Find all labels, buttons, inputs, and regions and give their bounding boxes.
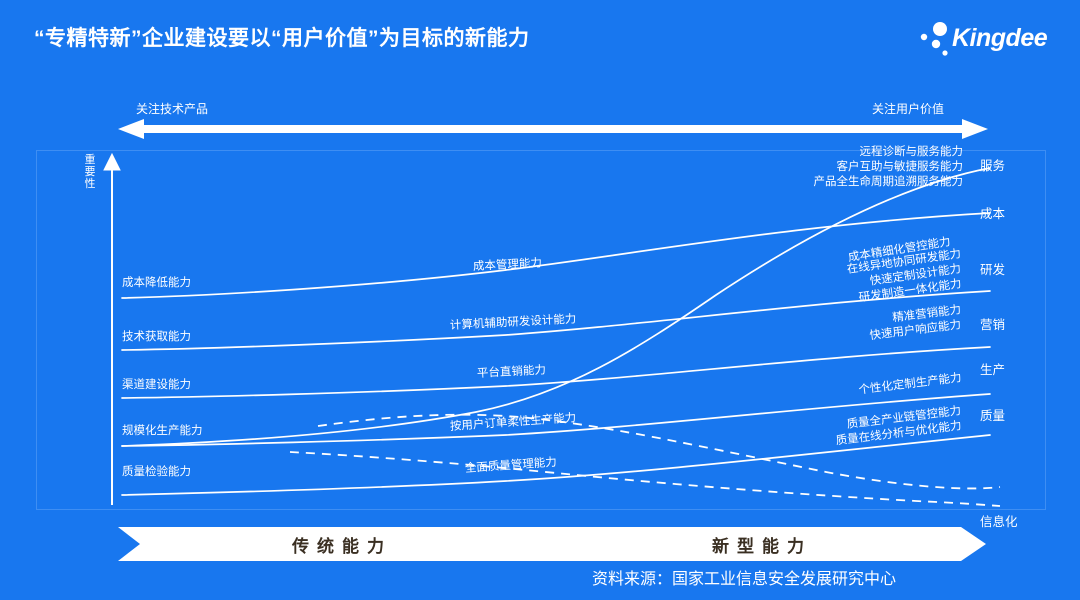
axis-caption-right: 关注用户价值 [872, 100, 944, 117]
solid-curve-group [122, 168, 990, 495]
label-traditional-quality: 质量检验能力 [122, 465, 191, 479]
right-tick-cost: 成本 [980, 203, 1005, 222]
label-new-service-2: 客户互助与敏捷服务能力 [837, 160, 964, 174]
page-title: “专精特新”企业建设要以“用户价值”为目标的新能力 [34, 22, 530, 52]
phase-banner-traditional-label: 传统能力 [284, 532, 392, 557]
label-new-service-1: 远程诊断与服务能力 [860, 145, 964, 159]
phase-banner-new-label: 新型能力 [704, 532, 812, 557]
right-tick-production: 生产 [980, 359, 1005, 378]
y-axis [104, 154, 120, 505]
kingdee-logo: Kingdee [914, 18, 1054, 62]
label-traditional-rnd: 技术获取能力 [122, 330, 191, 344]
bidirectional-arrow-icon [118, 116, 988, 142]
label-traditional-cost: 成本降低能力 [122, 276, 191, 290]
right-tick-rnd: 研发 [980, 259, 1005, 278]
kingdee-dots-icon [916, 20, 956, 60]
x-axis-tick-informatization: 信息化 [980, 511, 1018, 530]
right-tick-quality: 质量 [980, 405, 1005, 424]
right-tick-marketing: 营销 [980, 314, 1005, 333]
brand-name: Kingdee [952, 24, 1047, 53]
capability-chart: 成本降低能力 技术获取能力 渠道建设能力 规模化生产能力 质量检验能力 成本管理… [36, 150, 1046, 510]
source-note: 资料来源：国家工业信息安全发展研究中心 [592, 565, 896, 589]
right-tick-service: 服务 [980, 155, 1005, 174]
dashed-curve-lower [290, 452, 1000, 506]
label-traditional-marketing: 渠道建设能力 [122, 378, 191, 392]
slide-canvas: “专精特新”企业建设要以“用户价值”为目标的新能力 Kingdee 关注技术产品… [0, 0, 1080, 600]
label-traditional-production: 规模化生产能力 [122, 424, 203, 438]
label-new-service-3: 产品全生命周期追溯服务能力 [814, 175, 964, 189]
phase-banner-traditional: 传统能力 [118, 527, 558, 561]
axis-caption-left: 关注技术产品 [136, 100, 208, 117]
phase-banner-new: 新型能力 [530, 527, 986, 561]
